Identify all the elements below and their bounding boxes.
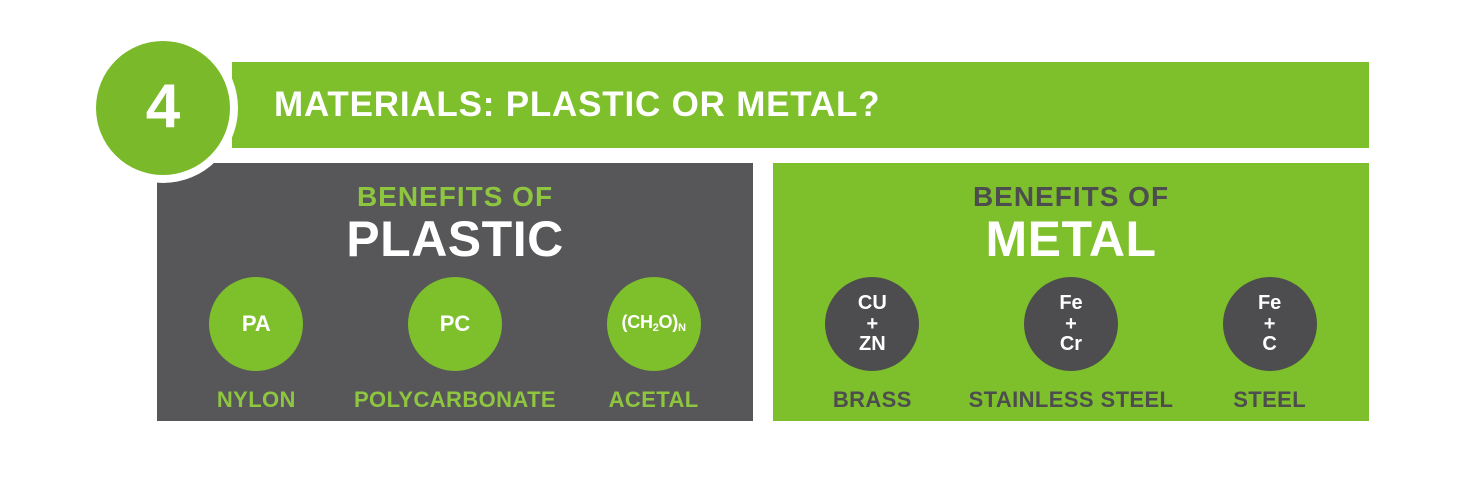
panel-plastic-heading-big: PLASTIC xyxy=(157,214,753,264)
panel-metal: BENEFITS OF METAL CU+ZN BRASS Fe+Cr STAI… xyxy=(773,163,1369,421)
material-formula-polycarbonate: PC xyxy=(440,313,471,336)
header-bar: MATERIALS: PLASTIC OR METAL? xyxy=(232,62,1369,148)
panel-plastic-items: PA NYLON PC POLYCARBONATE (CH2O)N ACETAL xyxy=(157,277,753,413)
material-item-polycarbonate[interactable]: PC POLYCARBONATE xyxy=(360,277,550,413)
material-formula-nylon: PA xyxy=(242,313,271,336)
material-bubble-nylon: PA xyxy=(209,277,303,371)
material-label-stainless-steel: STAINLESS STEEL xyxy=(969,387,1174,413)
material-formula-brass: CU+ZN xyxy=(858,293,887,355)
material-bubble-acetal: (CH2O)N xyxy=(607,277,701,371)
material-formula-acetal: (CH2O)N xyxy=(622,313,686,335)
material-bubble-stainless-steel: Fe+Cr xyxy=(1024,277,1118,371)
material-label-acetal: ACETAL xyxy=(609,387,699,413)
material-item-brass[interactable]: CU+ZN BRASS xyxy=(777,277,967,413)
material-label-brass: BRASS xyxy=(833,387,912,413)
material-item-stainless-steel[interactable]: Fe+Cr STAINLESS STEEL xyxy=(976,277,1166,413)
material-item-steel[interactable]: Fe+C STEEL xyxy=(1175,277,1365,413)
panel-metal-heading: BENEFITS OF METAL xyxy=(773,183,1369,264)
material-label-steel: STEEL xyxy=(1233,387,1306,413)
panel-plastic-heading-small: BENEFITS OF xyxy=(157,183,753,211)
material-bubble-brass: CU+ZN xyxy=(825,277,919,371)
step-badge-number: 4 xyxy=(146,76,180,138)
material-label-polycarbonate: POLYCARBONATE xyxy=(354,387,556,413)
panel-metal-heading-small: BENEFITS OF xyxy=(773,183,1369,211)
page-title: MATERIALS: PLASTIC OR METAL? xyxy=(274,62,880,148)
panel-metal-items: CU+ZN BRASS Fe+Cr STAINLESS STEEL Fe+C S… xyxy=(773,277,1369,413)
step-badge: 4 xyxy=(96,41,230,175)
panel-metal-heading-big: METAL xyxy=(773,214,1369,264)
material-bubble-steel: Fe+C xyxy=(1223,277,1317,371)
material-formula-steel: Fe+C xyxy=(1258,293,1281,355)
material-item-acetal[interactable]: (CH2O)N ACETAL xyxy=(559,277,749,413)
panel-plastic-heading: BENEFITS OF PLASTIC xyxy=(157,183,753,264)
material-item-nylon[interactable]: PA NYLON xyxy=(161,277,351,413)
panel-plastic: BENEFITS OF PLASTIC PA NYLON PC POLYCARB… xyxy=(157,163,753,421)
material-label-nylon: NYLON xyxy=(217,387,296,413)
material-formula-stainless-steel: Fe+Cr xyxy=(1059,293,1082,355)
material-bubble-polycarbonate: PC xyxy=(408,277,502,371)
infographic-root: MATERIALS: PLASTIC OR METAL? 4 BENEFITS … xyxy=(0,0,1460,500)
